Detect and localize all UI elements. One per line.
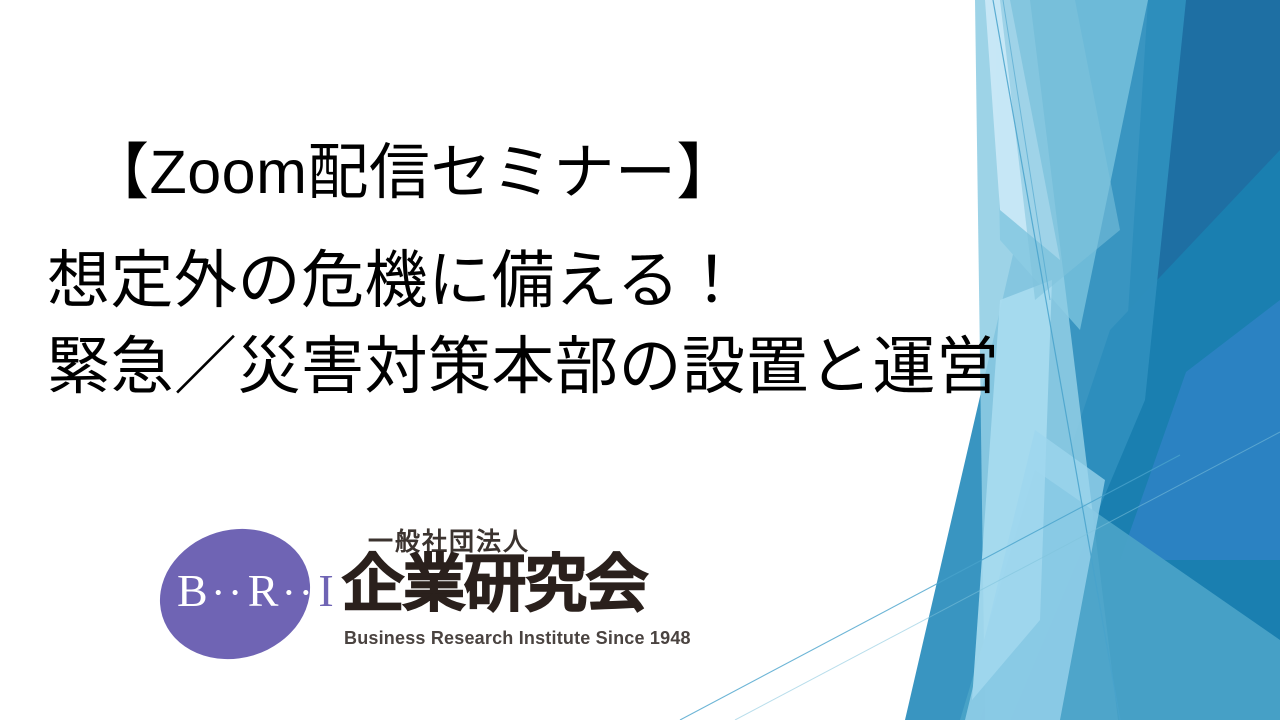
- title-slide: 【Zoom配信セミナー】 想定外の危機に備える！ 緊急／災害対策本部の設置と運営…: [0, 0, 1280, 720]
- bri-letter-b: B: [177, 568, 208, 614]
- bri-ellipse-mark-icon: B ･･ R ･･ I: [155, 520, 335, 662]
- logo-wordmark: 一般社団法人 企業研究会 Business Research Institute…: [340, 512, 720, 662]
- organization-name-label: 企業研究会: [342, 554, 647, 616]
- bri-letter-r: R: [248, 568, 279, 614]
- headline-line-1: 想定外の危機に備える！: [47, 248, 744, 314]
- organization-logo: B ･･ R ･･ I 一般社団法人 企業研究会 Business Resear…: [155, 512, 715, 672]
- headline-line-2: 緊急／災害対策本部の設置と運営: [47, 334, 1000, 400]
- bri-dots-left: ･･: [208, 580, 248, 610]
- bri-letter-i: I: [318, 568, 333, 614]
- organization-tagline: Business Research Institute Since 1948: [344, 628, 691, 649]
- seminar-format-title: 【Zoom配信セミナー】: [88, 140, 738, 204]
- bri-letters: B ･･ R ･･ I: [155, 520, 335, 662]
- bri-dots-right: ･･: [278, 580, 318, 610]
